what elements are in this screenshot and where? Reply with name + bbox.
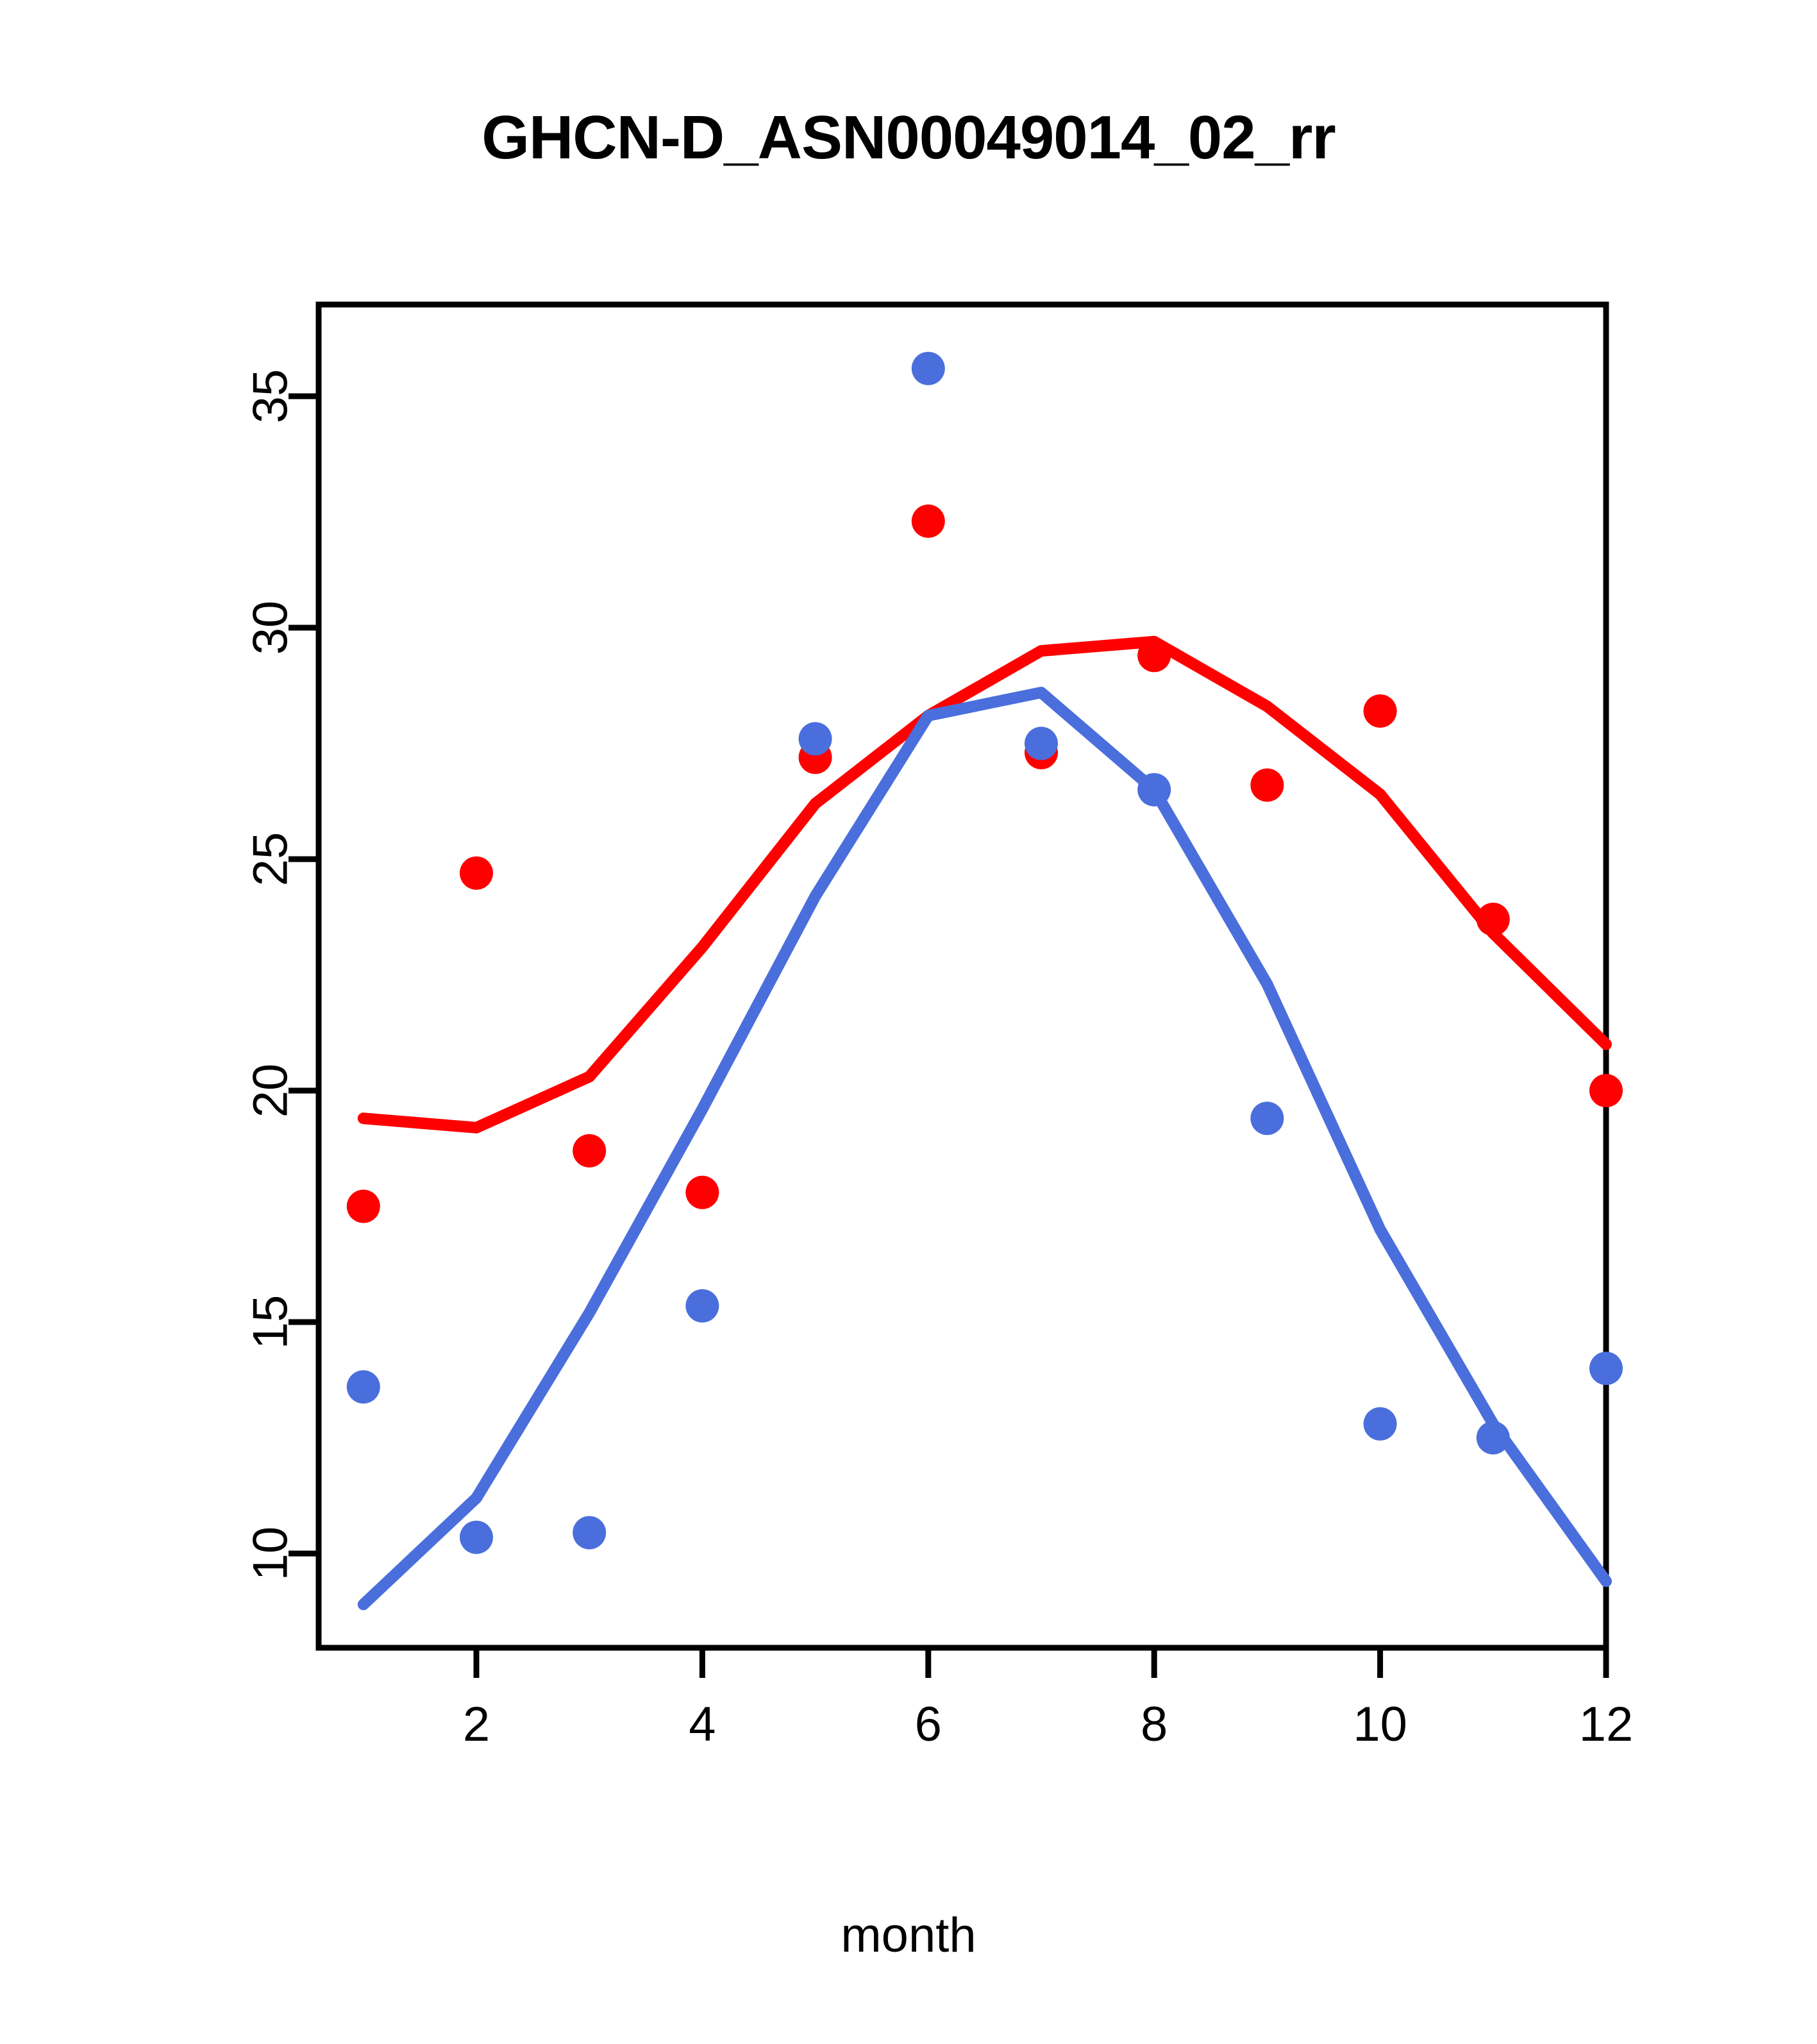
data-point (1477, 903, 1510, 936)
data-point (912, 505, 945, 538)
data-point (1589, 1352, 1623, 1385)
point-series-layer (347, 352, 1623, 1554)
data-point (1250, 1102, 1284, 1135)
line-series-layer (364, 642, 1606, 1605)
x-tick-label: 6 (915, 1697, 942, 1752)
data-point (1137, 773, 1171, 807)
data-point (912, 352, 945, 385)
data-point (347, 1190, 380, 1223)
data-point (573, 1134, 606, 1168)
series-line-red-line (364, 642, 1606, 1128)
x-tick-label: 8 (1141, 1697, 1168, 1752)
y-tick-label: 30 (244, 601, 298, 655)
x-tick-label: 12 (1579, 1697, 1634, 1752)
chart-page: GHCN-D_ASN00049014_02_rr 101520253035 24… (0, 0, 1817, 2044)
data-point (685, 1289, 719, 1323)
y-tick-label: 25 (244, 832, 298, 887)
data-point (1589, 1074, 1623, 1107)
data-point (1250, 769, 1284, 802)
data-point (1477, 1421, 1510, 1455)
data-point (1025, 727, 1058, 760)
data-point (1137, 639, 1171, 672)
data-point (1364, 694, 1397, 728)
y-tick-label: 10 (244, 1527, 298, 1581)
y-tick-label: 15 (244, 1295, 298, 1350)
x-tick-label: 10 (1353, 1697, 1407, 1752)
x-tick-label: 4 (689, 1697, 716, 1752)
data-point (573, 1516, 606, 1550)
x-axis-ticks: 24681012 (463, 1648, 1633, 1752)
x-axis-label: month (0, 1907, 1817, 1963)
data-point (685, 1176, 719, 1209)
data-point (799, 722, 832, 755)
y-tick-label: 35 (244, 369, 298, 424)
data-point (460, 1521, 493, 1554)
y-axis-ticks: 101520253035 (244, 369, 319, 1581)
data-point (347, 1370, 380, 1403)
plot-area: 101520253035 24681012 (0, 0, 1817, 2044)
data-point (1364, 1407, 1397, 1441)
x-tick-label: 2 (463, 1697, 490, 1752)
y-tick-label: 20 (244, 1064, 298, 1118)
series-line-blue-line (364, 692, 1606, 1604)
data-point (460, 857, 493, 890)
